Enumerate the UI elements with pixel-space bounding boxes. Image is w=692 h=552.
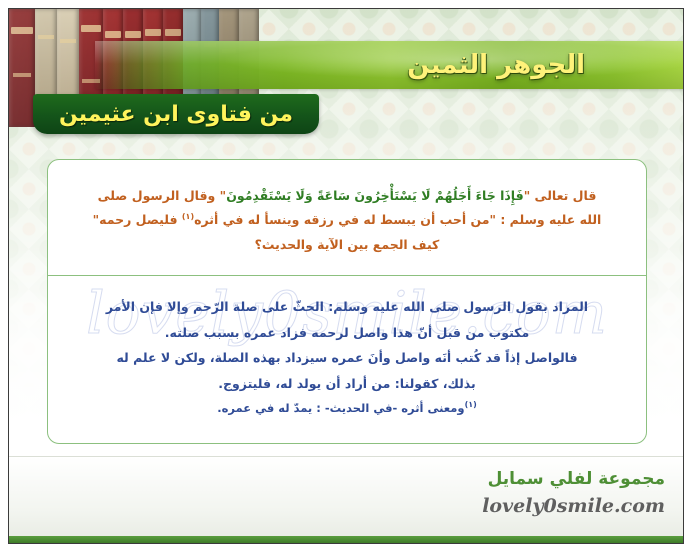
page-frame: الجوهر الثمين من فتاوى ابن عثيمين lovely… <box>8 8 684 544</box>
main-title-bar: الجوهر الثمين <box>95 41 684 89</box>
footnote-line: (١)ومعنى أثره -في الحديث- : يمدّ له في ع… <box>74 397 620 421</box>
answer-line-1: المراد بقول الرسول صلى الله عليه وسلم: ا… <box>74 294 620 320</box>
subtitle-pill: من فتاوى ابن عثيمين <box>33 94 319 134</box>
footer-arabic-label: مجموعة لفلي سمايل <box>488 469 665 489</box>
answer-line-4: بذلك، كقولنا: من أراد أن يولد له، فليتزو… <box>74 371 620 397</box>
question-block: قال تعالى "فَإِذَا جَاءَ أَجَلُهُمْ لَا … <box>48 160 646 271</box>
answer-block: المراد بقول الرسول صلى الله عليه وسلم: ا… <box>48 276 646 430</box>
question-line-1-suffix: " وقال الرسول صلى <box>98 188 227 203</box>
question-line-2-text: الله عليه وسلم : "من أحب أن يبسط له في ر… <box>194 212 601 227</box>
answer-line-3: فالواصل إذاً قد كُتب أنَه واصل وأنَ عمره… <box>74 345 620 371</box>
subtitle-text: من فتاوى ابن عثيمين <box>59 102 293 127</box>
footer-green-bar <box>9 536 683 543</box>
footnote-text: ومعنى أثره -في الحديث- : يمدّ له في عمره… <box>217 401 464 415</box>
question-line-2: الله عليه وسلم : "من أحب أن يبسط له في ر… <box>74 208 620 232</box>
question-line-2-end: فليصل رحمه" <box>93 212 182 227</box>
page-root: الجوهر الثمين من فتاوى ابن عثيمين lovely… <box>0 0 692 552</box>
main-title: الجوهر الثمين <box>407 50 607 80</box>
answer-line-2: مكتوب من قبل أنّ هذا واصل لرحمه فزاد عمر… <box>74 320 620 346</box>
header-banner: الجوهر الثمين من فتاوى ابن عثيمين <box>9 9 683 135</box>
question-line-1-prefix: قال تعالى " <box>524 188 597 203</box>
question-line-1: قال تعالى "فَإِذَا جَاءَ أَجَلُهُمْ لَا … <box>74 184 620 208</box>
page-footer: مجموعة لفلي سمايل lovely0smile.com <box>9 456 683 543</box>
footnote-marker-bottom: (١) <box>465 400 477 409</box>
footer-url: lovely0smile.com <box>482 495 665 517</box>
question-line-3: كيف الجمع بين الآية والحديث؟ <box>74 233 620 257</box>
footnote-marker: (١) <box>182 212 194 221</box>
quran-verse: فَإِذَا جَاءَ أَجَلُهُمْ لَا يَسْتَأْخِر… <box>226 188 524 203</box>
content-card: lovely0smile.com قال تعالى "فَإِذَا جَاء… <box>47 159 647 444</box>
